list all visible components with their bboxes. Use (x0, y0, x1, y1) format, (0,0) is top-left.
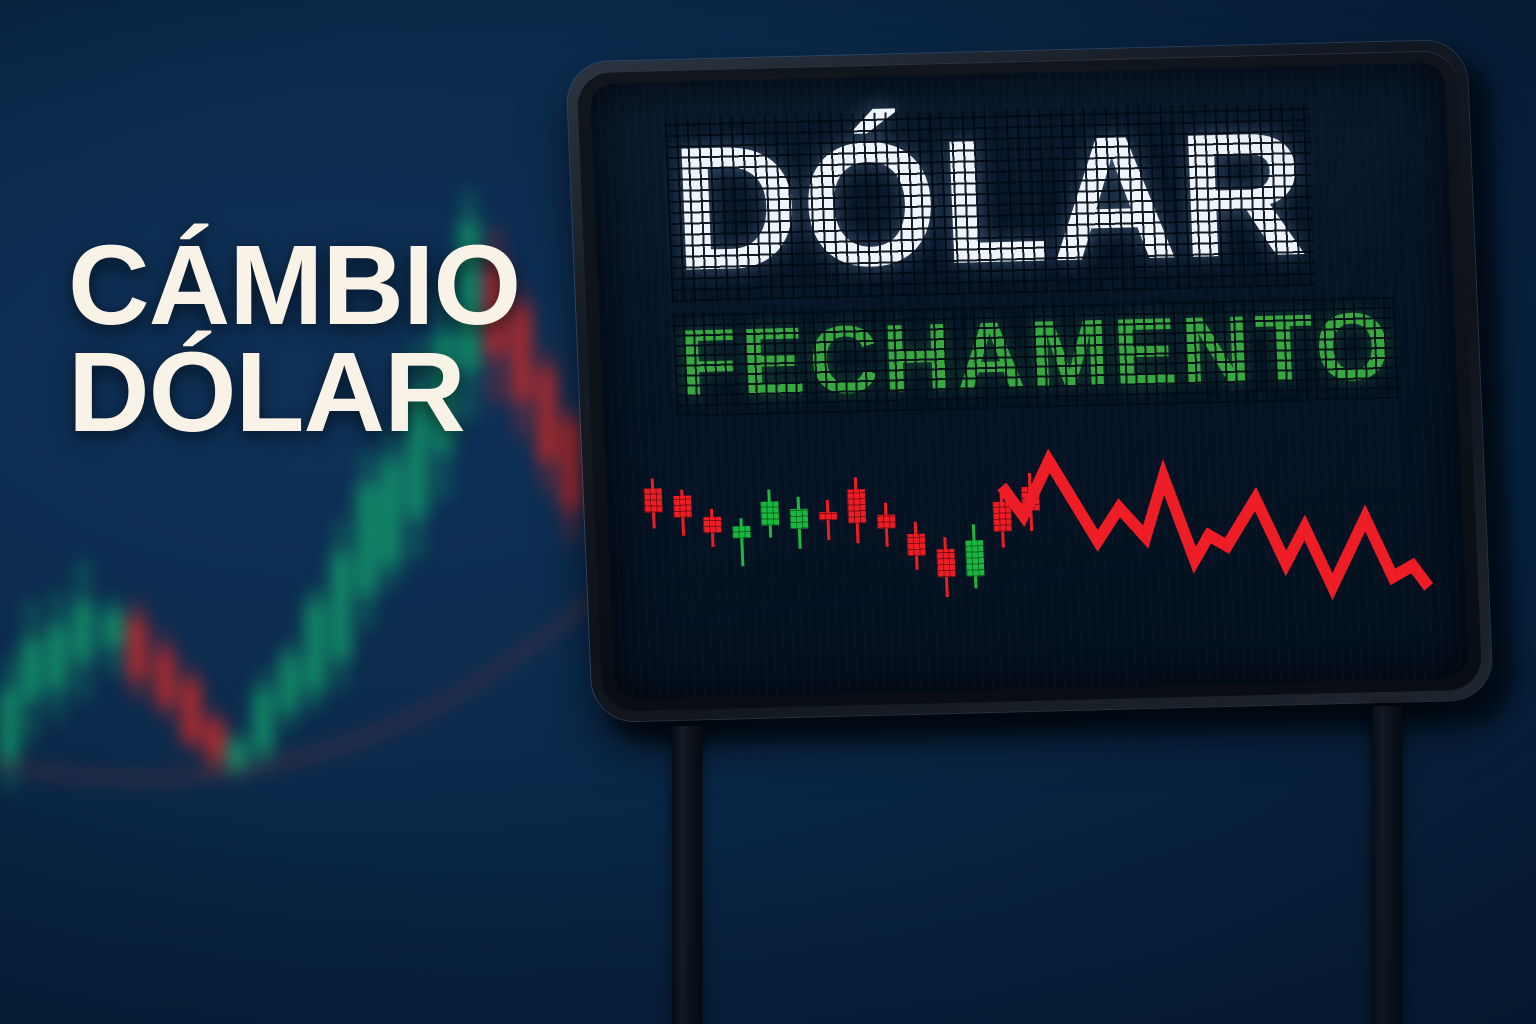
candle-body (104, 610, 122, 648)
candle-body (819, 512, 837, 520)
candle-body (332, 552, 350, 660)
candle-body (936, 549, 955, 577)
background-candle (104, 598, 122, 676)
background-candle (358, 450, 376, 630)
background-candle (538, 350, 556, 492)
candle-body (847, 489, 866, 523)
billboard-trend-line (1000, 435, 1438, 636)
candle-body (906, 534, 925, 556)
headline-line-2: DÓLAR (68, 339, 538, 446)
billboard-title: DÓLAR (669, 106, 1312, 298)
background-candle (206, 710, 224, 772)
candle-body (538, 368, 556, 462)
background-candle (562, 406, 580, 540)
candle-body (732, 526, 750, 538)
candle-body (562, 420, 580, 510)
billboard-candle (818, 500, 838, 540)
candle-body (760, 501, 779, 525)
candle-body (254, 690, 272, 752)
billboard-candle (964, 524, 985, 588)
billboard-subtitle-text: FECHAMENTO (676, 293, 1396, 418)
billboard-candlestick-series (635, 462, 1063, 672)
candle-body (182, 680, 200, 742)
background-candle (182, 666, 200, 752)
background-candle (22, 600, 40, 740)
billboard-candle (732, 518, 752, 566)
candle-body (228, 740, 246, 768)
billboard: DÓLAR FECHAMENTO (566, 39, 1512, 742)
candle-body (48, 625, 66, 690)
candle-body (280, 656, 298, 712)
candle-body (789, 509, 808, 529)
candle-body (965, 540, 984, 576)
background-candle (280, 640, 298, 730)
background-candle (228, 734, 246, 776)
billboard-candle (846, 477, 867, 543)
billboard-candle (760, 489, 780, 537)
billboard-candle (906, 522, 926, 570)
candle-body (306, 602, 324, 692)
candle-body (22, 640, 40, 700)
candle-body (644, 488, 663, 512)
billboard-candle (789, 497, 809, 549)
page-title: CÁMBIO DÓLAR (68, 232, 538, 447)
candle-body (673, 496, 692, 518)
billboard-frame: DÓLAR FECHAMENTO (566, 40, 1493, 722)
billboard-subtitle: FECHAMENTO (677, 299, 1396, 413)
background-candle (128, 600, 146, 700)
background-candle (74, 560, 92, 700)
candle-body (128, 618, 146, 680)
background-candle (0, 660, 18, 790)
background-candle (332, 520, 350, 690)
candle-body (877, 514, 896, 528)
billboard-candle (702, 509, 722, 547)
scene-root: CÁMBIO DÓLAR DÓLAR FECHAMENTO (0, 0, 1536, 1024)
candle-body (156, 650, 174, 706)
support-post-right (1372, 706, 1402, 1024)
candle-body (358, 484, 376, 596)
candle-body (0, 690, 18, 760)
background-candle (156, 632, 174, 720)
background-candle (254, 670, 272, 766)
billboard-candle (876, 502, 896, 546)
billboard-screen: DÓLAR FECHAMENTO (589, 62, 1470, 699)
support-post-left (672, 726, 702, 1024)
billboard-title-text: DÓLAR (668, 96, 1312, 308)
background-candle (306, 586, 324, 712)
candle-body (703, 517, 722, 533)
billboard-candle (643, 478, 663, 528)
candle-body (382, 460, 400, 566)
background-candle (48, 590, 66, 720)
candle-body (74, 602, 92, 662)
billboard-candle (935, 537, 955, 597)
billboard-candle (673, 490, 693, 536)
candle-body (206, 720, 224, 760)
